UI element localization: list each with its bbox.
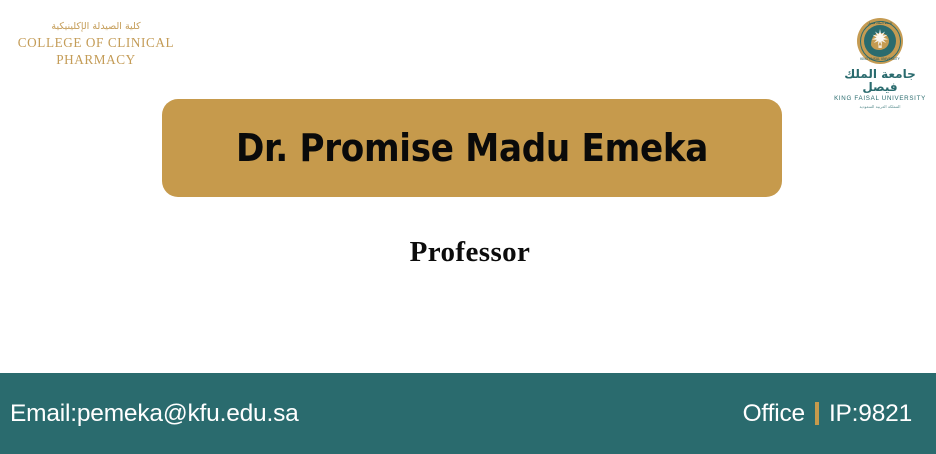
job-title: Professor: [0, 236, 936, 269]
university-logo: جامعة الملك فيصل KING FAISAL UNIVERSITY …: [832, 18, 928, 109]
college-logo: كلية الصيدلة الإكلينيكية COLLEGE OF CLIN…: [6, 22, 186, 68]
college-logo-arabic-name: كلية الصيدلة الإكلينيكية: [6, 22, 186, 33]
emblem-palm-star-motif: [864, 25, 896, 57]
university-arabic-name: جامعة الملك فيصل: [832, 68, 928, 94]
college-logo-english-line2: PHARMACY: [6, 53, 186, 68]
university-emblem-icon: جامعة الملك فيصل KING FAISAL UNIVERSITY: [857, 18, 903, 64]
emblem-inner-disc: [864, 25, 896, 57]
name-banner: Dr. Promise Madu Emeka: [162, 99, 782, 197]
footer-office-ip: IP:9821: [829, 400, 912, 428]
footer-contact-bar: Email:pemeka@kfu.edu.sa Office IP:9821: [0, 373, 936, 454]
footer-email: Email:pemeka@kfu.edu.sa: [10, 400, 299, 428]
university-tagline: المملكة العربية السعودية: [832, 104, 928, 109]
university-english-name: KING FAISAL UNIVERSITY: [832, 95, 928, 102]
footer-office-group: Office IP:9821: [743, 400, 912, 428]
person-name: Dr. Promise Madu Emeka: [236, 126, 708, 170]
footer-office-label: Office: [743, 400, 805, 428]
college-logo-english-line1: COLLEGE OF CLINICAL: [6, 36, 186, 51]
emblem-ring-bottom-text: KING FAISAL UNIVERSITY: [857, 57, 903, 61]
footer-separator: [815, 402, 819, 425]
